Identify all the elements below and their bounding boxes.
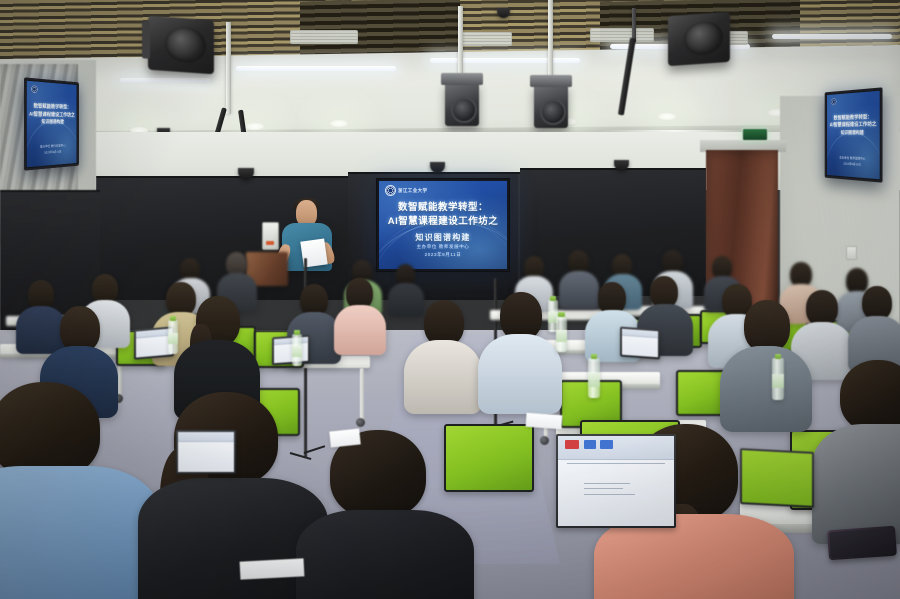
university-emblem-icon (385, 185, 396, 196)
strip-light-5 (120, 78, 210, 82)
laptop-3[interactable] (620, 327, 660, 360)
slide-date: 2023年9月11日 (379, 251, 507, 260)
ceiling-speaker-left (148, 16, 214, 75)
water-bottle-5 (588, 358, 600, 398)
right-monitor-title-2: AI智慧课程建设工作坊之 (827, 122, 880, 130)
water-bottle-2-cap (294, 330, 300, 335)
slide-title-line-2: AI智慧课程建设工作坊之 (379, 215, 507, 229)
left-monitor-title-3: 知识图谱构建 (27, 119, 77, 126)
projection-screen: 浙江工业大学 数智赋能教学转型： AI智慧课程建设工作坊之 知识图谱构建 主办单… (376, 178, 510, 272)
slide-meta-block: 主办单位 教师发展中心 2023年9月11日 (379, 243, 507, 260)
water-bottle-6-label (772, 374, 784, 388)
slide-title-line-3: 知识图谱构建 (379, 232, 507, 244)
downlight-4 (328, 119, 350, 128)
downlight-3 (244, 122, 266, 131)
attendee-foreground-left-torso (0, 466, 160, 599)
handout-2 (526, 413, 563, 429)
attendee-mid-1-torso (16, 306, 66, 354)
slide-title-line-1: 数智赋能教学转型： (379, 201, 507, 215)
right-monitor-logo (831, 98, 837, 105)
presenter (280, 200, 336, 276)
laptop-2[interactable] (272, 335, 310, 366)
attendee-far-4-torso (388, 283, 424, 317)
water-bottle-1-label (168, 333, 178, 345)
ceiling-speaker-right (668, 12, 730, 66)
university-logo: 浙江工业大学 (385, 185, 427, 196)
laptop-3-screen (622, 329, 658, 358)
smartphone-screen (829, 528, 895, 558)
laptop-doc-line-1 (584, 483, 630, 484)
attendee-near-5-torso (720, 346, 812, 432)
water-bottle-6-cap (775, 354, 782, 359)
stage-light-2 (534, 84, 568, 128)
laptop-ribbon-divider (567, 463, 664, 464)
laptop-doc-line-2 (584, 488, 623, 489)
chair-back-13 (444, 424, 534, 492)
stage-light-yoke-1 (441, 73, 483, 85)
control-panel-led (266, 241, 274, 245)
attendee-foreground-farright-head (840, 360, 900, 432)
laptop-3-toolbar (622, 329, 658, 338)
hanging-rod-3 (548, 0, 553, 86)
strip-light-1 (236, 66, 396, 71)
laptop-1-toolbar (136, 328, 172, 338)
strip-light-2 (430, 58, 580, 63)
laptop-doc-line-3 (584, 494, 635, 495)
attendee-mid-3-head (166, 282, 196, 316)
laptop-ribbon-tab-file[interactable] (565, 440, 579, 449)
slide-surface: 浙江工业大学 数智赋能教学转型： AI智慧课程建设工作坊之 知识图谱构建 主办单… (379, 181, 507, 269)
laptop-ribbon-tab-insert[interactable] (600, 440, 613, 449)
stage-light-1 (445, 82, 479, 126)
left-monitor-slide: 数智赋能教学转型： AI智慧课程建设工作坊之 知识图谱构建 主办单位 教师发展中… (27, 81, 77, 168)
laptop-4-screen (178, 432, 234, 472)
laptop-foreground-screen (558, 436, 674, 526)
strip-light-4 (772, 34, 892, 39)
hanging-rod-4 (632, 8, 636, 42)
attendee-foreground-midleft-torso (296, 510, 474, 599)
stage-light-lens-2 (540, 99, 566, 125)
water-bottle-6 (772, 358, 784, 400)
right-monitor-title: 数智赋能教学转型： AI智慧课程建设工作坊之 知识图谱构建 (827, 114, 880, 137)
handout-1 (329, 428, 361, 447)
desk-caster-l3 (356, 418, 365, 427)
water-bottle-4-label (556, 330, 567, 342)
wall-monitor-right: 数智赋能教学转型： AI智慧课程建设工作坊之 知识图谱构建 主办单位 教师发展中… (825, 87, 883, 182)
laptop-foreground-document[interactable] (556, 434, 676, 528)
water-bottle-5-label (588, 373, 600, 387)
ceiling-vent-5 (460, 32, 512, 46)
hanging-rod-1 (226, 22, 231, 114)
desk-caster-r2 (540, 436, 549, 445)
laptop-4[interactable] (176, 430, 236, 474)
water-bottle-1 (168, 320, 178, 354)
laptop-1-screen (136, 328, 172, 357)
left-monitor-emblem-icon (31, 85, 37, 93)
water-bottle-4 (556, 316, 567, 352)
water-bottle-2 (292, 334, 302, 366)
stage-light-lens-1 (451, 97, 477, 123)
water-bottle-1-cap (170, 316, 176, 321)
speaker-bracket-left (142, 21, 150, 59)
water-bottle-2-label (292, 346, 302, 357)
handout-3 (240, 558, 305, 579)
stage-light-yoke-2 (530, 75, 572, 87)
downlight-6 (656, 112, 678, 121)
attendee-mid-9-head (806, 290, 838, 326)
water-bottle-5-cap (591, 354, 598, 359)
wall-monitor-left: 数智赋能教学转型： AI智慧课程建设工作坊之 知识图谱构建 主办单位 教师发展中… (24, 77, 79, 170)
lecture-hall-photo: 浙江工业大学 数智赋能教学转型： AI智慧课程建设工作坊之 知识图谱构建 主办单… (0, 0, 900, 599)
right-monitor-slide: 数智赋能教学转型： AI智慧课程建设工作坊之 知识图谱构建 主办单位 教师发展中… (827, 91, 880, 180)
laptop-2-screen (274, 337, 308, 363)
left-monitor-title: 数智赋能教学转型： AI智慧课程建设工作坊之 知识图谱构建 (27, 103, 77, 126)
desk-leg-l3 (360, 368, 364, 420)
attendee-near-3-torso (404, 340, 482, 414)
speaker-cone-right (684, 20, 722, 56)
slide-organizer: 主办单位 教师发展中心 (379, 243, 507, 252)
slide-title-block: 数智赋能教学转型： AI智慧课程建设工作坊之 知识图谱构建 (379, 201, 507, 243)
laptop-5-screen (742, 450, 812, 506)
attendee-near-4-head (500, 292, 542, 340)
laptop-4-toolbar (178, 432, 234, 442)
right-monitor-title-3: 知识图谱构建 (827, 130, 880, 137)
laptop-ribbon-tab-home[interactable] (584, 440, 597, 449)
university-name: 浙江工业大学 (398, 188, 427, 194)
attendee-near-4-torso (478, 334, 562, 414)
smartphone-on-desk[interactable] (827, 526, 897, 561)
light-switch[interactable] (846, 246, 857, 260)
exit-sign (742, 128, 768, 141)
ceiling-vent-1 (290, 30, 358, 44)
laptop-2-toolbar (274, 337, 308, 346)
attendee-foreground-left-head (0, 382, 100, 478)
attendee-near-5-head (744, 300, 790, 352)
speaker-cone-left (165, 26, 206, 64)
water-bottle-4-cap (558, 312, 564, 317)
attendee-mid-10-head (862, 286, 892, 320)
ceiling-vent-2 (590, 28, 654, 42)
laptop-5[interactable] (740, 448, 814, 508)
left-monitor-logo (31, 85, 37, 93)
attendee-far-6-torso (559, 271, 599, 309)
attendee-mid-5-torso (334, 305, 386, 355)
wall-control-panel[interactable] (262, 222, 279, 250)
right-monitor-emblem-icon (831, 98, 837, 105)
water-bottle-3-cap (550, 296, 556, 301)
